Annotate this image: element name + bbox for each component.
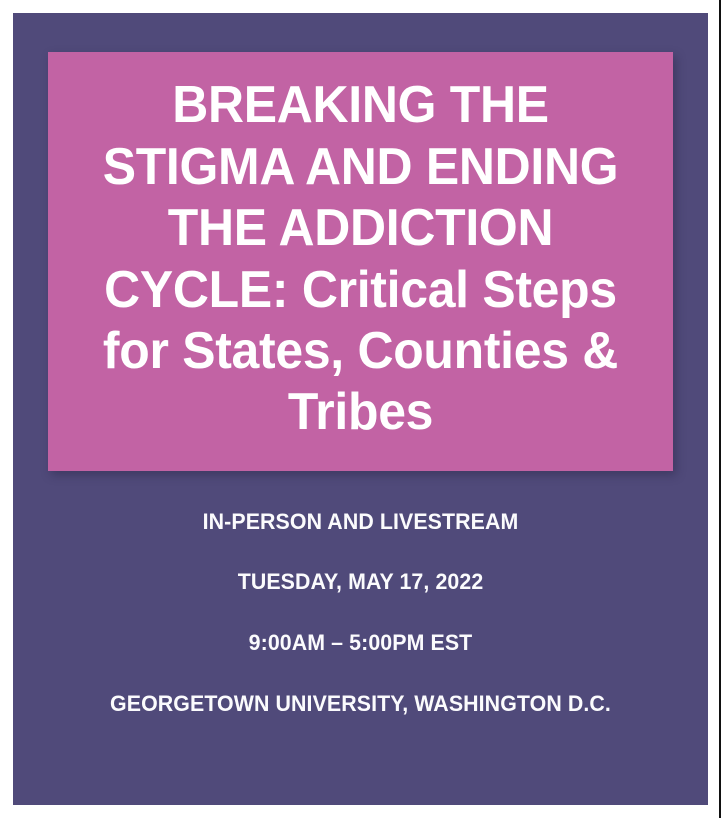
event-details: IN-PERSON AND LIVESTREAM TUESDAY, MAY 17… [13, 508, 708, 719]
event-format: IN-PERSON AND LIVESTREAM [23, 508, 697, 536]
title-banner: BREAKING THE STIGMA AND ENDING THE ADDIC… [48, 52, 673, 471]
event-time: 9:00AM – 5:00PM EST [23, 629, 697, 657]
event-flyer: BREAKING THE STIGMA AND ENDING THE ADDIC… [13, 13, 708, 805]
event-date: TUESDAY, MAY 17, 2022 [23, 568, 697, 596]
event-title: BREAKING THE STIGMA AND ENDING THE ADDIC… [78, 75, 643, 443]
event-venue: GEORGETOWN UNIVERSITY, WASHINGTON D.C. [23, 690, 697, 718]
